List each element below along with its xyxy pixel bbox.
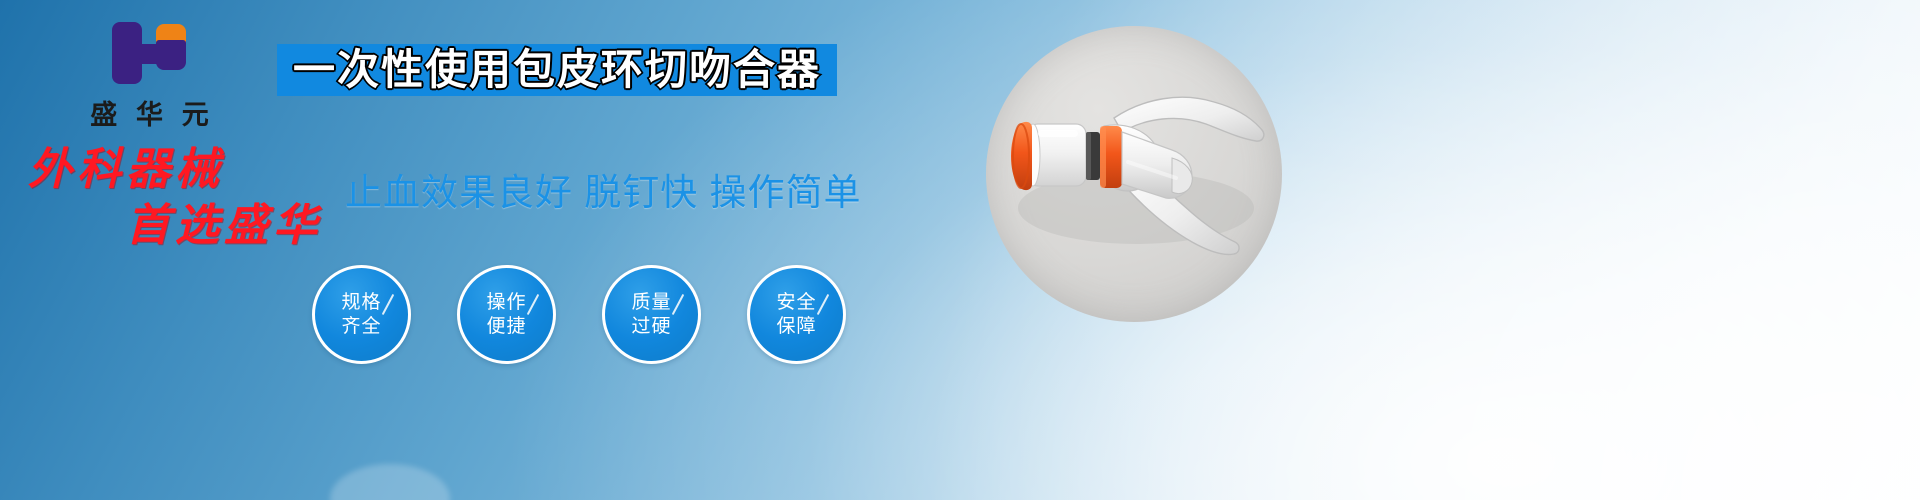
- feature-badge-line-2: 过硬: [631, 315, 671, 338]
- shenghuayuan-logo-mark-icon: [112, 22, 188, 84]
- slash-decoration-icon: [672, 294, 685, 315]
- feature-badge-quality[interactable]: 质量 过硬: [602, 265, 701, 364]
- brand-logo[interactable]: 盛 华 元: [62, 22, 237, 132]
- feature-badge-line-2: 保障: [776, 315, 816, 338]
- logo-block-bottom-right: [156, 40, 186, 70]
- calligraphy-line-2: 首选盛华: [18, 204, 348, 248]
- calligraphy-slogan: 外科器械 首选盛华: [18, 148, 348, 248]
- feature-badge-list: 规格 齐全 操作 便捷 质量 过硬 安全 保障: [312, 265, 846, 364]
- calligraphy-line-1: 外科器械: [18, 148, 348, 192]
- product-photo: [986, 26, 1282, 322]
- slash-decoration-icon: [817, 294, 830, 315]
- slash-decoration-icon: [382, 294, 395, 315]
- feature-badge-line-1: 规格: [341, 291, 381, 314]
- product-subtitle: 止血效果良好 脱钉快 操作简单: [345, 162, 862, 216]
- logo-block-bottom-left: [112, 58, 142, 84]
- feature-badge-line-1: 质量: [631, 291, 671, 314]
- circumcision-stapler-illustration-icon: [986, 26, 1282, 322]
- feature-badge-line-1: 安全: [776, 291, 816, 314]
- feature-badge-line-2: 齐全: [341, 315, 381, 338]
- product-banner: 盛 华 元 一次性使用包皮环切吻合器 外科器械 首选盛华 止血效果良好 脱钉快 …: [0, 0, 1920, 500]
- product-title: 一次性使用包皮环切吻合器: [293, 49, 821, 91]
- feature-badge-safety[interactable]: 安全 保障: [747, 265, 846, 364]
- feature-badge-line-2: 便捷: [486, 315, 526, 338]
- product-title-band: 一次性使用包皮环切吻合器: [277, 44, 837, 96]
- slash-decoration-icon: [527, 294, 540, 315]
- logo-block-notch: [142, 34, 158, 52]
- brand-name: 盛 华 元: [62, 93, 237, 132]
- feature-badge-specification[interactable]: 规格 齐全: [312, 265, 411, 364]
- background-ghost-shape: [330, 464, 450, 500]
- feature-badge-operation[interactable]: 操作 便捷: [457, 265, 556, 364]
- feature-badge-line-1: 操作: [486, 291, 526, 314]
